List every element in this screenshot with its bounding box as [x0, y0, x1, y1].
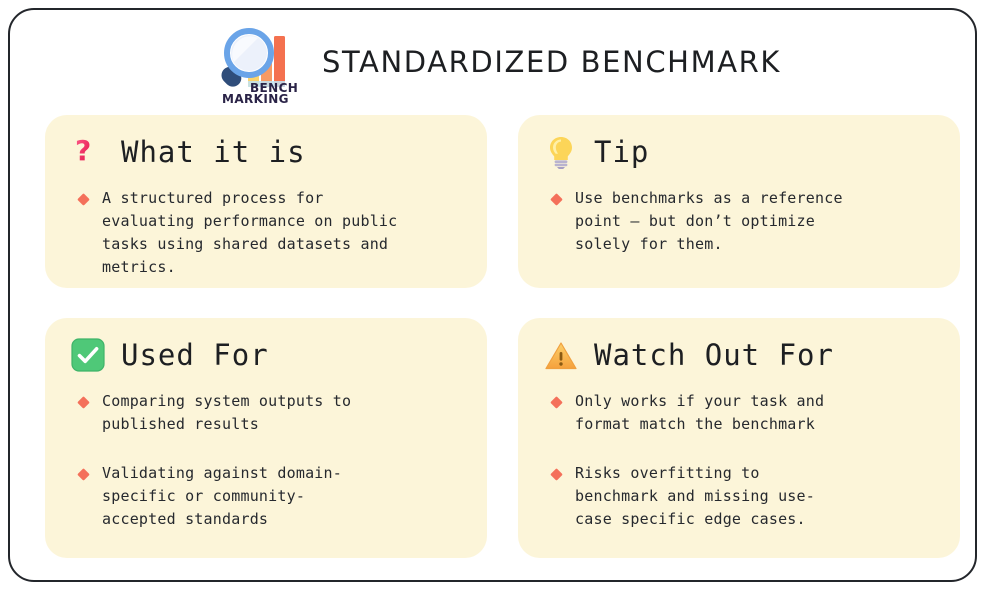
card-header: ? What it is — [67, 129, 465, 175]
list-item: Validating against domain- specific or c… — [71, 462, 465, 531]
bullet-text: Validating against domain- specific or c… — [102, 462, 342, 531]
list-item: Use benchmarks as a reference point – bu… — [544, 187, 938, 256]
list-item: A structured process for evaluating perf… — [71, 187, 465, 279]
card-title: Used For — [121, 341, 269, 370]
diamond-bullet-icon — [77, 193, 90, 206]
bullet-list: Comparing system outputs to published re… — [67, 390, 465, 531]
question-mark-icon: ? — [71, 135, 105, 169]
card-what-it-is: ? What it is A structured process for ev… — [45, 115, 487, 288]
card-tip: Tip Use benchmarks as a reference point … — [518, 115, 960, 288]
card-title: What it is — [121, 138, 306, 167]
bullet-text: Risks overfitting to benchmark and missi… — [575, 462, 815, 531]
card-header: Tip — [540, 129, 938, 175]
card-title: Tip — [594, 138, 649, 167]
cards-grid: ? What it is A structured process for ev… — [45, 115, 960, 570]
diamond-bullet-icon — [77, 396, 90, 409]
page-frame: BENCH MARKING STANDARDIZED BENCHMARK — [8, 8, 977, 582]
diamond-bullet-icon — [550, 396, 563, 409]
list-item: Risks overfitting to benchmark and missi… — [544, 462, 938, 531]
list-item: Comparing system outputs to published re… — [71, 390, 465, 436]
list-item: Only works if your task and format match… — [544, 390, 938, 436]
magnifier-barchart-logo: BENCH MARKING — [204, 26, 300, 104]
bullet-text: Use benchmarks as a reference point – bu… — [575, 187, 843, 256]
card-header: Used For — [67, 332, 465, 378]
bullet-list: Only works if your task and format match… — [540, 390, 938, 531]
bullet-text: Comparing system outputs to published re… — [102, 390, 351, 436]
bullet-text: Only works if your task and format match… — [575, 390, 824, 436]
diamond-bullet-icon — [550, 193, 563, 206]
card-watch-out-for: Watch Out For Only works if your task an… — [518, 318, 960, 558]
header: BENCH MARKING STANDARDIZED BENCHMARK — [10, 22, 975, 108]
bullet-list: Use benchmarks as a reference point – bu… — [540, 187, 938, 256]
diamond-bullet-icon — [550, 468, 563, 481]
light-bulb-icon — [544, 135, 578, 169]
bullet-list: A structured process for evaluating perf… — [67, 187, 465, 279]
card-title: Watch Out For — [594, 341, 834, 370]
card-used-for: Used For Comparing system outputs to pub… — [45, 318, 487, 558]
bullet-text: A structured process for evaluating perf… — [102, 187, 397, 279]
check-mark-icon — [71, 338, 105, 372]
logo-text-line2: MARKING — [222, 92, 289, 104]
warning-triangle-icon — [544, 338, 578, 372]
page-title: STANDARDIZED BENCHMARK — [322, 48, 781, 83]
card-header: Watch Out For — [540, 332, 938, 378]
svg-text:?: ? — [75, 135, 91, 167]
diamond-bullet-icon — [77, 468, 90, 481]
